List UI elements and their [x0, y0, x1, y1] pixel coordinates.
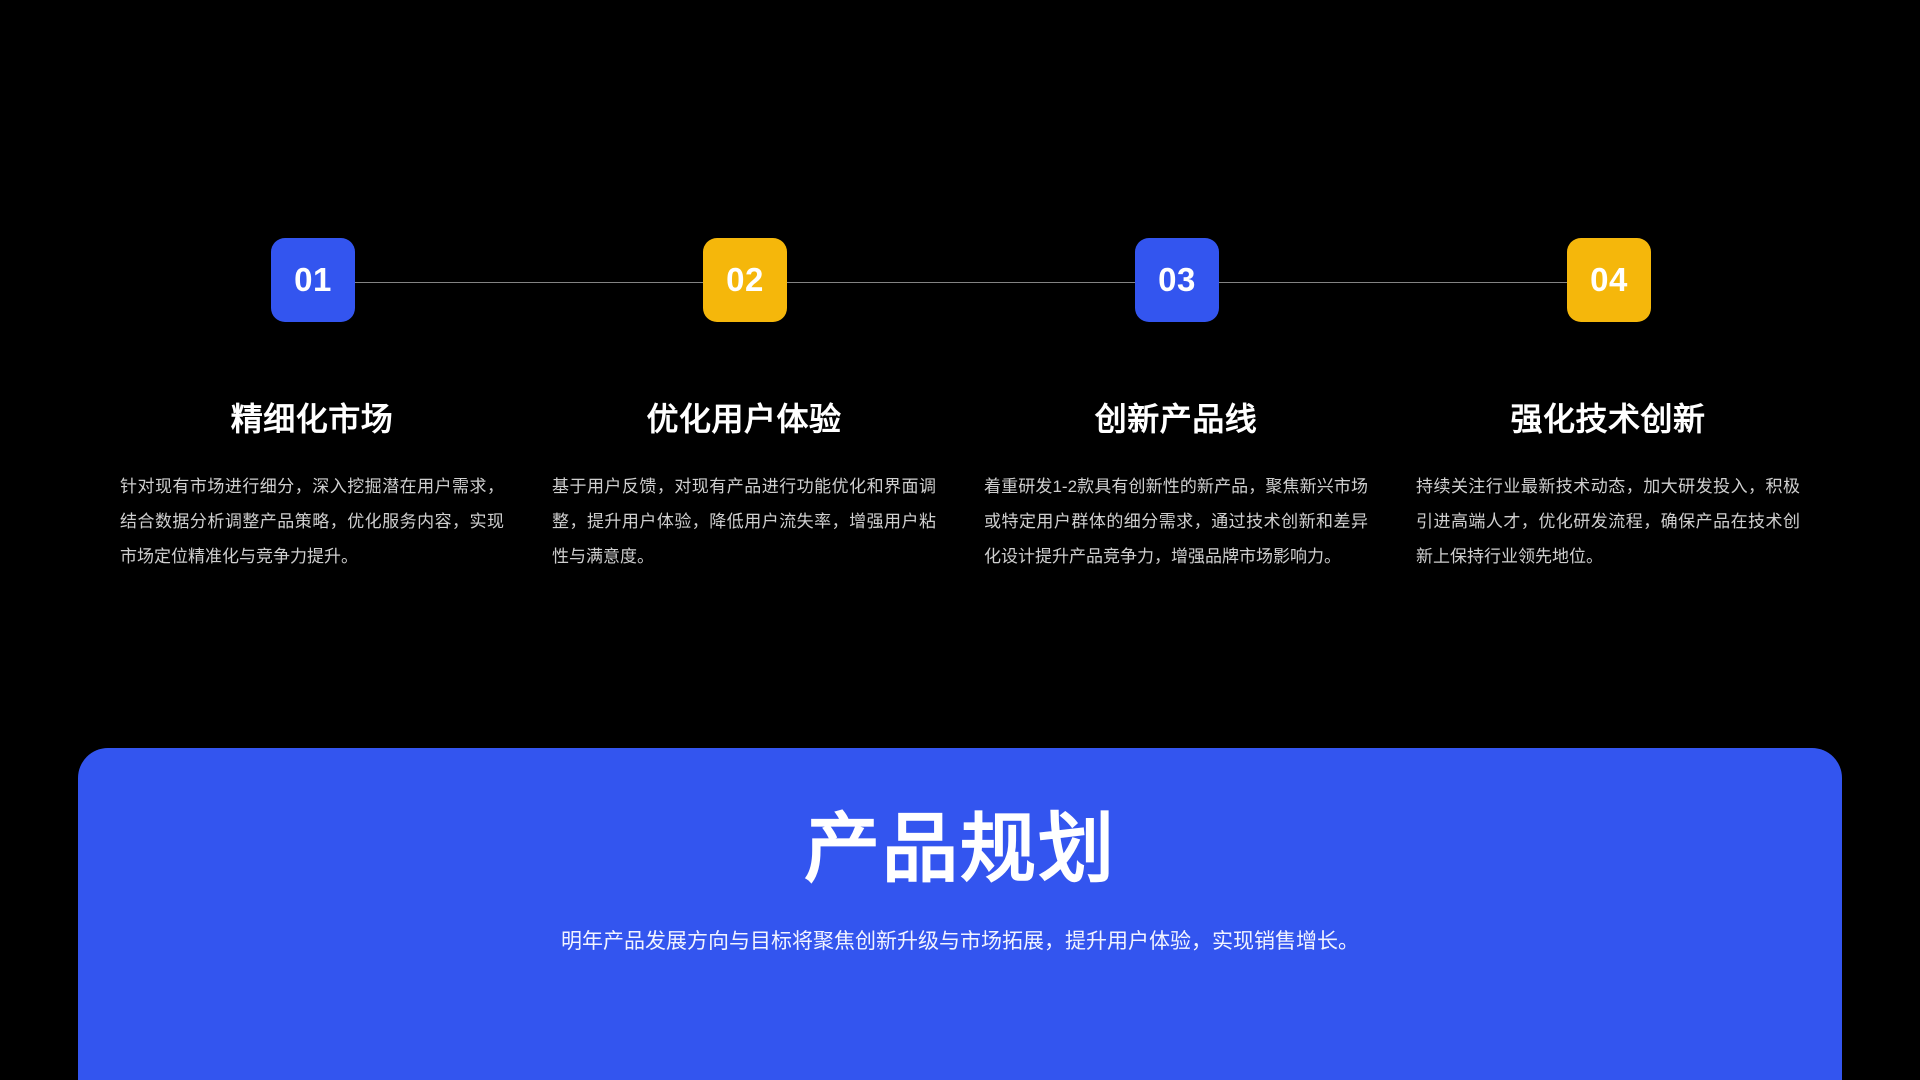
step-badge-01[interactable]: 01 [271, 238, 355, 322]
feature-columns: 精细化市场 针对现有市场进行细分，深入挖掘潜在用户需求，结合数据分析调整产品策略… [96, 400, 1824, 575]
feature-column-2-body: 基于用户反馈，对现有产品进行功能优化和界面调整，提升用户体验，降低用户流失率，增… [552, 470, 936, 575]
step-badge-04-label: 04 [1590, 261, 1628, 299]
feature-column-1: 精细化市场 针对现有市场进行细分，深入挖掘潜在用户需求，结合数据分析调整产品策略… [96, 400, 528, 575]
feature-column-4-title: 强化技术创新 [1416, 400, 1800, 438]
timeline: 01 02 03 04 [0, 232, 1920, 332]
timeline-badges: 01 02 03 04 [0, 232, 1920, 332]
hero-panel: 产品规划 明年产品发展方向与目标将聚焦创新升级与市场拓展，提升用户体验，实现销售… [78, 748, 1842, 1080]
feature-column-3-body: 着重研发1-2款具有创新性的新产品，聚焦新兴市场或特定用户群体的细分需求，通过技… [984, 470, 1368, 575]
step-badge-02[interactable]: 02 [703, 238, 787, 322]
step-badge-03-label: 03 [1158, 261, 1196, 299]
feature-column-1-title: 精细化市场 [120, 400, 504, 438]
slide-root: 01 02 03 04 精细化市场 针对现有市场进行细分，深入挖掘潜在用户需求，… [0, 0, 1920, 1080]
feature-column-2: 优化用户体验 基于用户反馈，对现有产品进行功能优化和界面调整，提升用户体验，降低… [528, 400, 960, 575]
feature-column-1-body: 针对现有市场进行细分，深入挖掘潜在用户需求，结合数据分析调整产品策略，优化服务内… [120, 470, 504, 575]
feature-column-2-title: 优化用户体验 [552, 400, 936, 438]
step-badge-02-label: 02 [726, 261, 764, 299]
hero-panel-subtitle: 明年产品发展方向与目标将聚焦创新升级与市场拓展，提升用户体验，实现销售增长。 [78, 926, 1842, 958]
feature-column-3: 创新产品线 着重研发1-2款具有创新性的新产品，聚焦新兴市场或特定用户群体的细分… [960, 400, 1392, 575]
step-badge-01-label: 01 [294, 261, 332, 299]
step-badge-03[interactable]: 03 [1135, 238, 1219, 322]
step-badge-04[interactable]: 04 [1567, 238, 1651, 322]
feature-column-4-body: 持续关注行业最新技术动态，加大研发投入，积极引进高端人才，优化研发流程，确保产品… [1416, 470, 1800, 575]
hero-panel-title: 产品规划 [78, 810, 1842, 890]
feature-column-3-title: 创新产品线 [984, 400, 1368, 438]
feature-column-4: 强化技术创新 持续关注行业最新技术动态，加大研发投入，积极引进高端人才，优化研发… [1392, 400, 1824, 575]
